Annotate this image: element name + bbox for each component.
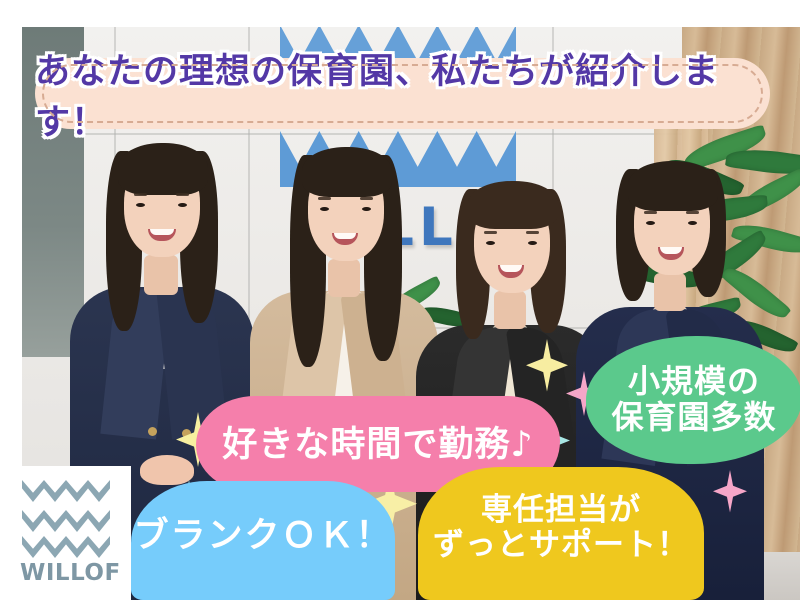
person-3-brow	[484, 231, 497, 234]
person-1-neck	[144, 255, 178, 295]
person-4-brow	[644, 211, 657, 214]
logo-zigzag-icon	[22, 536, 110, 558]
person-2-brow	[360, 197, 373, 200]
bubble-career-gap-ok: ブランクＯＫ！	[131, 481, 395, 600]
bubble-green-line1: 小規模の	[611, 364, 776, 400]
person-1-eye	[178, 203, 187, 207]
person-1-hand	[140, 455, 194, 485]
advertisement-banner: WILLOF	[0, 0, 800, 600]
person-2-brow	[318, 197, 331, 200]
person-3-neck	[494, 291, 526, 329]
person-1-brow	[176, 193, 189, 196]
logo-brand-text: WILLOF	[20, 560, 116, 586]
person-2-hair-top	[302, 147, 392, 197]
person-4-hair-top	[628, 161, 718, 211]
person-3-eye	[528, 241, 537, 245]
person-3-brow	[526, 231, 539, 234]
person-1-hair-top	[118, 143, 208, 195]
person-2-eye	[320, 207, 329, 211]
person-4-brow	[686, 211, 699, 214]
bubble-blue-text: ブランクＯＫ！	[133, 517, 392, 556]
person-2-neck	[328, 259, 360, 297]
logo-zigzag-icon	[22, 480, 110, 502]
bubble-pink-text: 好きな時間で勤務♪	[222, 426, 533, 465]
person-2-teeth	[334, 233, 356, 239]
logo-zigzag-icon	[22, 510, 110, 532]
person-4-neck	[654, 273, 686, 311]
person-1-teeth	[150, 229, 174, 235]
brand-logo-card: WILLOF	[0, 466, 131, 600]
bubble-yellow-text: 専任担当が ずっとサポート！	[433, 493, 689, 562]
bubble-green-text: 小規模の 保育園多数	[611, 364, 776, 436]
bubble-small-nurseries: 小規模の 保育園多数	[586, 336, 800, 464]
person-3-eye	[486, 241, 495, 245]
person-4-eye	[646, 221, 655, 225]
bubble-yellow-line2: ずっとサポート！	[433, 528, 689, 563]
person-4-eye	[688, 221, 697, 225]
headline-banner: あなたの理想の保育園、私たちが紹介します！	[35, 58, 770, 129]
person-1-brow	[134, 193, 147, 196]
person-3-hair-top	[468, 181, 558, 229]
person-4-teeth	[660, 247, 682, 254]
person-1-button	[148, 427, 157, 436]
person-2-eye	[362, 207, 371, 211]
person-3-teeth	[500, 265, 522, 272]
headline-text: あなたの理想の保育園、私たちが紹介します！	[35, 58, 770, 129]
person-1-eye	[136, 203, 145, 207]
bubble-dedicated-support: 専任担当が ずっとサポート！	[418, 467, 704, 600]
bubble-green-line2: 保育園多数	[611, 400, 776, 436]
bubble-yellow-line1: 専任担当が	[433, 493, 689, 528]
